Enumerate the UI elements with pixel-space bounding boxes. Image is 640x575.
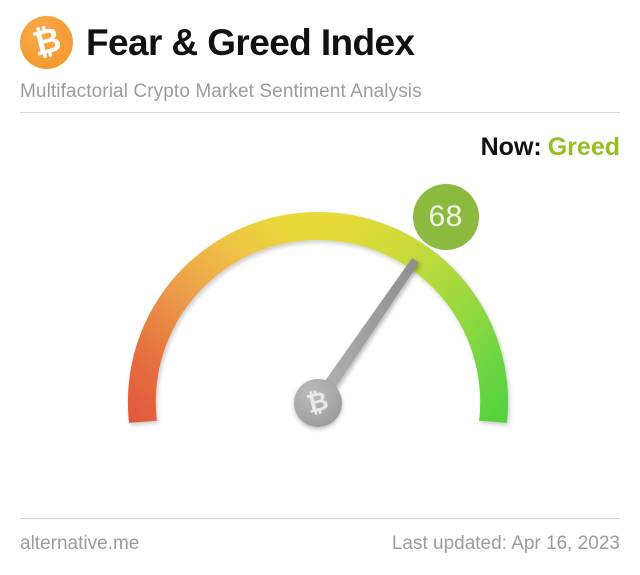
gauge-svg: [0, 178, 640, 508]
gauge-value-badge: 68: [413, 184, 479, 250]
bitcoin-icon: ₿: [20, 16, 73, 69]
page-header: ₿ Fear & Greed Index Multifactorial Cryp…: [0, 0, 640, 113]
status-badge: Now:Greed: [481, 132, 620, 162]
gauge-chart: ₿ 68: [0, 178, 640, 508]
page-footer: alternative.me Last updated: Apr 16, 202…: [0, 533, 640, 567]
bitcoin-glyph: ₿: [29, 22, 64, 62]
last-updated-label: Last updated: Apr 16, 2023: [392, 533, 620, 555]
header-divider: [20, 112, 620, 113]
bitcoin-hub-glyph: ₿: [305, 387, 332, 417]
gauge-arc-right: [318, 212, 508, 423]
page-subtitle: Multifactorial Crypto Market Sentiment A…: [20, 81, 422, 103]
status-label: Now:: [481, 133, 542, 161]
status-value: Greed: [548, 133, 620, 161]
gauge-needle-hub: ₿: [294, 379, 342, 427]
source-link[interactable]: alternative.me: [20, 533, 139, 555]
gauge-arc-left: [128, 212, 318, 423]
title-row: ₿ Fear & Greed Index: [20, 16, 415, 69]
footer-divider: [20, 518, 620, 519]
page-title: Fear & Greed Index: [86, 24, 415, 61]
